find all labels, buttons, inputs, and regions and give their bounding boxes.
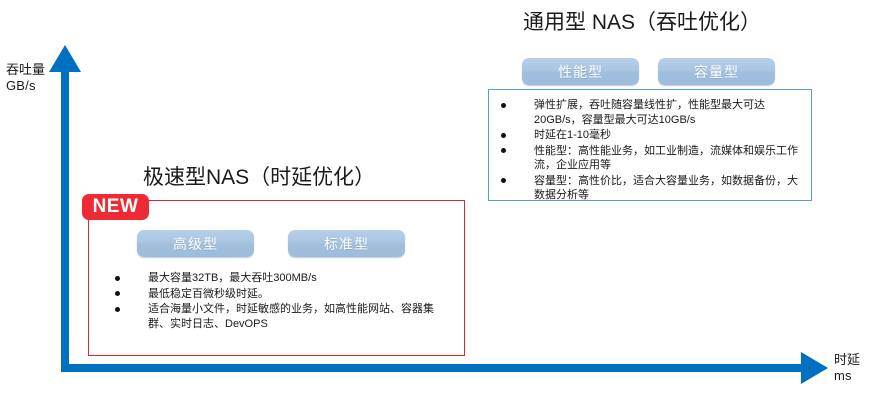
list-item: 容量型：高性价比，适合大容量业务，如数据备份，大数据分析等 [501, 174, 803, 203]
general-nas-info-box: 弹性扩展，吞吐随容量线性扩，性能型最大可达20GB/s，容量型最大可达10GB/… [488, 89, 812, 201]
list-item-text: 最低稳定百微秒级时延。 [148, 288, 269, 300]
list-item: 弹性扩展，吞吐随容量线性扩，性能型最大可达20GB/s，容量型最大可达10GB/… [501, 98, 803, 127]
x-axis-label-text: 时延 [834, 352, 860, 367]
list-item-text: 弹性扩展，吞吐随容量线性扩，性能型最大可达20GB/s，容量型最大可达10GB/… [534, 99, 765, 126]
list-item-text: 容量型：高性价比，适合大容量业务，如数据备份，大数据分析等 [534, 175, 798, 202]
turbo-nas-title: 极速型NAS（时延优化） [143, 165, 375, 191]
pill-standard-tier[interactable]: 标准型 [288, 230, 405, 257]
y-axis-label-text: 吞吐量 [6, 62, 45, 77]
bullet-dot-icon [115, 307, 120, 312]
bullet-dot-icon [115, 276, 120, 281]
list-item: 性能型：高性能业务，如工业制造，流媒体和娱乐工作流，企业应用等 [501, 144, 803, 173]
list-item: 最大容量32TB，最大吞吐300MB/s [115, 271, 454, 286]
turbo-nas-info-box: 最大容量32TB，最大吞吐300MB/s 最低稳定百微秒级时延。 适合海量小文件… [88, 200, 465, 356]
general-nas-bullet-list: 弹性扩展，吞吐随容量线性扩，性能型最大可达20GB/s，容量型最大可达10GB/… [489, 90, 811, 203]
y-axis-arrowhead [49, 45, 81, 72]
pill-capacity-tier[interactable]: 容量型 [658, 58, 775, 85]
list-item-text: 时延在1-10毫秒 [534, 129, 611, 141]
list-item-text: 最大容量32TB，最大吞吐300MB/s [148, 272, 317, 284]
general-nas-title: 通用型 NAS（吞吐优化） [523, 10, 761, 36]
x-axis-arrowhead [801, 352, 828, 384]
bullet-dot-icon [501, 148, 506, 153]
bullet-dot-icon [501, 103, 506, 108]
pill-performance-tier[interactable]: 性能型 [522, 58, 639, 85]
x-axis-label: 时延 ms [834, 352, 860, 384]
list-item: 适合海量小文件，时延敏感的业务，如高性能网站、容器集群、实时日志、DevOPS [115, 302, 454, 331]
slide-canvas: 吞吐量 GB/s 时延 ms 通用型 NAS（吞吐优化） 性能型 容量型 弹性扩… [0, 0, 883, 403]
bullet-dot-icon [115, 291, 120, 296]
list-item-text: 适合海量小文件，时延敏感的业务，如高性能网站、容器集群、实时日志、DevOPS [148, 303, 434, 330]
bullet-dot-icon [501, 178, 506, 183]
y-axis-label: 吞吐量 GB/s [6, 62, 45, 94]
bullet-dot-icon [501, 133, 506, 138]
y-axis-shaft [61, 62, 69, 372]
turbo-nas-bullet-list: 最大容量32TB，最大吞吐300MB/s 最低稳定百微秒级时延。 适合海量小文件… [89, 201, 464, 331]
list-item-text: 性能型：高性能业务，如工业制造，流媒体和娱乐工作流，企业应用等 [534, 145, 798, 172]
x-axis-unit: ms [834, 368, 860, 384]
pill-advanced-tier[interactable]: 高级型 [137, 230, 254, 257]
x-axis-shaft [61, 364, 811, 372]
new-badge: NEW [82, 194, 149, 220]
list-item: 最低稳定百微秒级时延。 [115, 287, 454, 302]
list-item: 时延在1-10毫秒 [501, 128, 803, 143]
y-axis-unit: GB/s [6, 78, 45, 94]
